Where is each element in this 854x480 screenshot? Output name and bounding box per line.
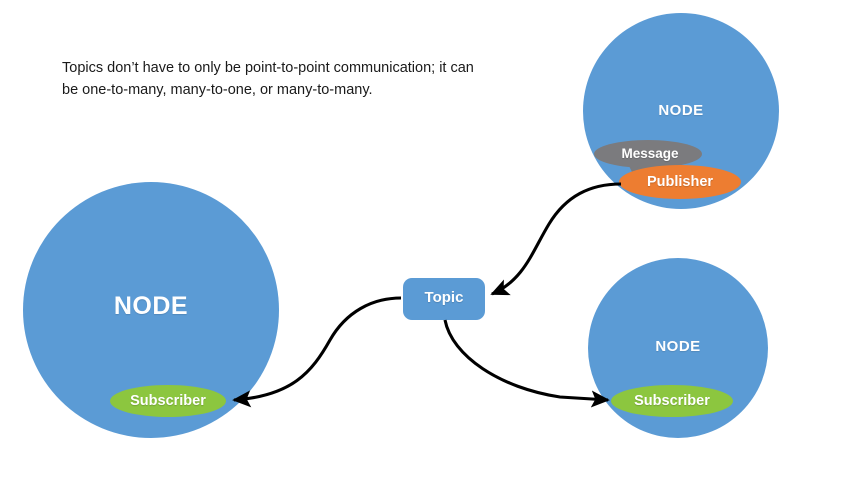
caption-text: Topics don’t have to only be point-to-po… [62, 58, 482, 102]
node-bottomright-label: NODE [627, 338, 729, 355]
node-left-label: NODE [90, 292, 212, 321]
subscriber-right-label: Subscriber [620, 393, 724, 409]
topic-label: Topic [404, 289, 484, 306]
diagram-canvas: Topics don’t have to only be point-to-po… [0, 0, 854, 480]
node-topright-label: NODE [630, 102, 732, 119]
publisher-label: Publisher [628, 174, 732, 190]
arrow-publisher-to-topic [492, 184, 621, 294]
subscriber-left-label: Subscriber [116, 393, 220, 409]
arrow-topic-to-subscriber-right [445, 320, 608, 400]
message-label: Message [600, 146, 700, 161]
